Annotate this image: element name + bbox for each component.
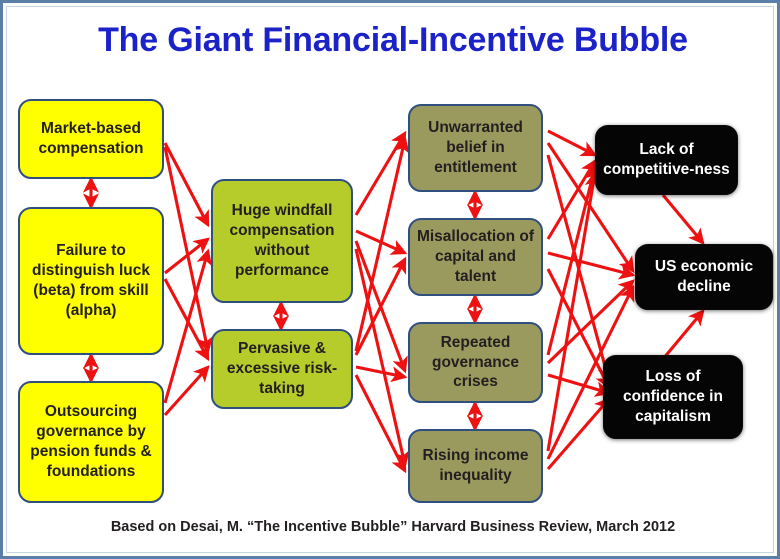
diagram-canvas: The Giant Financial-Incentive Bubble xyxy=(0,0,780,559)
page-title: The Giant Financial-Incentive Bubble xyxy=(3,21,780,60)
node-label: Huge windfall compensation without perfo… xyxy=(219,201,345,280)
node-pervasive-excessive-risk-taking[interactable]: Pervasive & excessive risk-taking xyxy=(211,329,353,409)
node-label: Misallocation of capital and talent xyxy=(416,227,535,286)
node-misallocation-of-capital-and-talent[interactable]: Misallocation of capital and talent xyxy=(408,218,543,296)
node-unwarranted-belief-in-entitlement[interactable]: Unwarranted belief in entitlement xyxy=(408,104,543,192)
node-rising-income-inequality[interactable]: Rising income inequality xyxy=(408,429,543,503)
node-loss-of-confidence-in-capitalism[interactable]: Loss of confidence in capitalism xyxy=(603,355,743,439)
node-lack-of-competitiveness[interactable]: Lack of competitive-ness xyxy=(595,125,738,195)
node-label: Loss of confidence in capitalism xyxy=(610,367,736,426)
node-label: US economic decline xyxy=(642,257,766,297)
node-label: Lack of competitive-ness xyxy=(602,140,731,180)
node-label: Repeated governance crises xyxy=(416,333,535,392)
node-label: Outsourcing governance by pension funds … xyxy=(26,402,156,481)
node-huge-windfall-compensation[interactable]: Huge windfall compensation without perfo… xyxy=(211,179,353,303)
source-caption: Based on Desai, M. “The Incentive Bubble… xyxy=(3,519,780,535)
node-market-based-compensation[interactable]: Market-based compensation xyxy=(18,99,164,179)
node-outsourcing-governance[interactable]: Outsourcing governance by pension funds … xyxy=(18,381,164,503)
node-failure-to-distinguish-luck-from-skill[interactable]: Failure to distinguish luck (beta) from … xyxy=(18,207,164,355)
node-label: Market-based compensation xyxy=(26,119,156,159)
node-label: Failure to distinguish luck (beta) from … xyxy=(26,241,156,320)
node-label: Pervasive & excessive risk-taking xyxy=(219,339,345,398)
node-label: Unwarranted belief in entitlement xyxy=(416,118,535,177)
node-label: Rising income inequality xyxy=(416,446,535,486)
node-repeated-governance-crises[interactable]: Repeated governance crises xyxy=(408,322,543,403)
node-us-economic-decline[interactable]: US economic decline xyxy=(635,244,773,310)
